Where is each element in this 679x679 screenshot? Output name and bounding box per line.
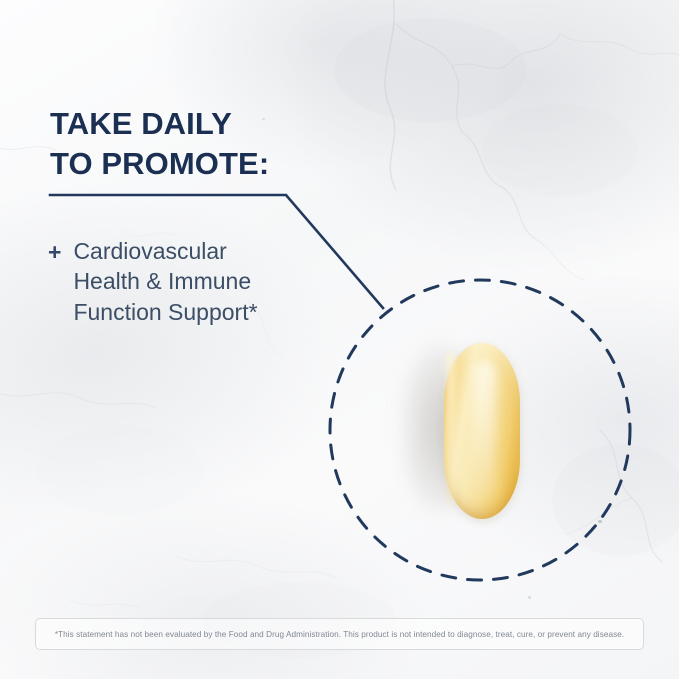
disclaimer-box: *This statement has not been evaluated b…	[35, 618, 644, 650]
disclaimer-text: *This statement has not been evaluated b…	[55, 630, 624, 639]
capsule-highlight	[474, 361, 496, 497]
capsule-rim-light	[446, 353, 455, 505]
product-image-softgel	[330, 280, 630, 580]
softgel-capsule	[444, 343, 520, 519]
product-benefit-poster: TAKE DAILY TO PROMOTE: + Cardiovascular …	[0, 0, 679, 679]
